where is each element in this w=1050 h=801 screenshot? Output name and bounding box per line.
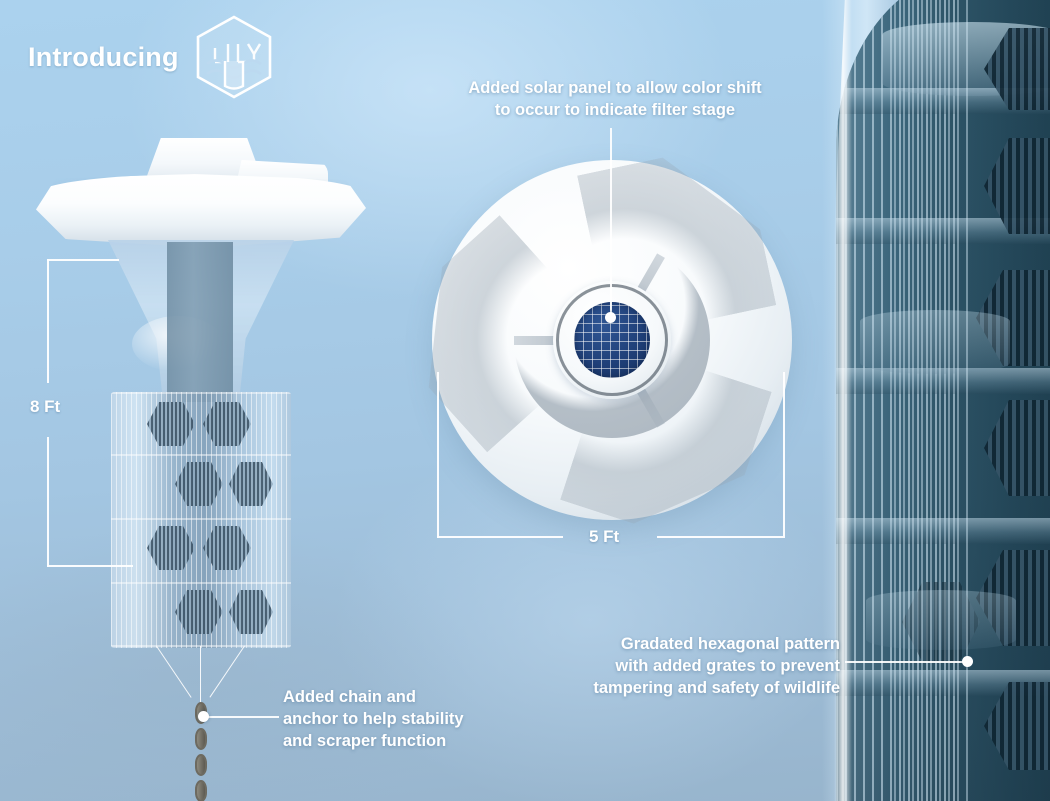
leader-line-solar (610, 128, 612, 318)
float-collar (36, 174, 366, 248)
callout-solar-panel: Added solar panel to allow color shift t… (405, 78, 825, 122)
callout-dot-solar (605, 312, 616, 323)
product-top-view (432, 160, 792, 520)
leader-line-chain (204, 716, 279, 718)
detail-cylinder (836, 0, 1050, 801)
product-side-view (36, 130, 366, 770)
callout-dot-chain (198, 711, 209, 722)
leader-line-hex (845, 661, 967, 663)
lily-logo (193, 14, 275, 100)
page-title: Introducing (28, 42, 179, 73)
slide-header: Introducing (28, 14, 275, 100)
anchor-cables (156, 646, 244, 706)
filter-body (111, 392, 291, 648)
dimension-width-label: 5 Ft (589, 527, 619, 547)
dimension-height-label: 8 Ft (30, 397, 60, 417)
callout-dot-hex (962, 656, 973, 667)
callout-hex-pattern: Gradated hexagonal pattern with added gr… (530, 634, 840, 699)
filter-body-detail-view (822, 0, 1050, 801)
core-column (167, 242, 233, 402)
callout-chain-anchor: Added chain and anchor to help stability… (283, 687, 543, 752)
design-presentation-slide: Introducing (0, 0, 1050, 801)
